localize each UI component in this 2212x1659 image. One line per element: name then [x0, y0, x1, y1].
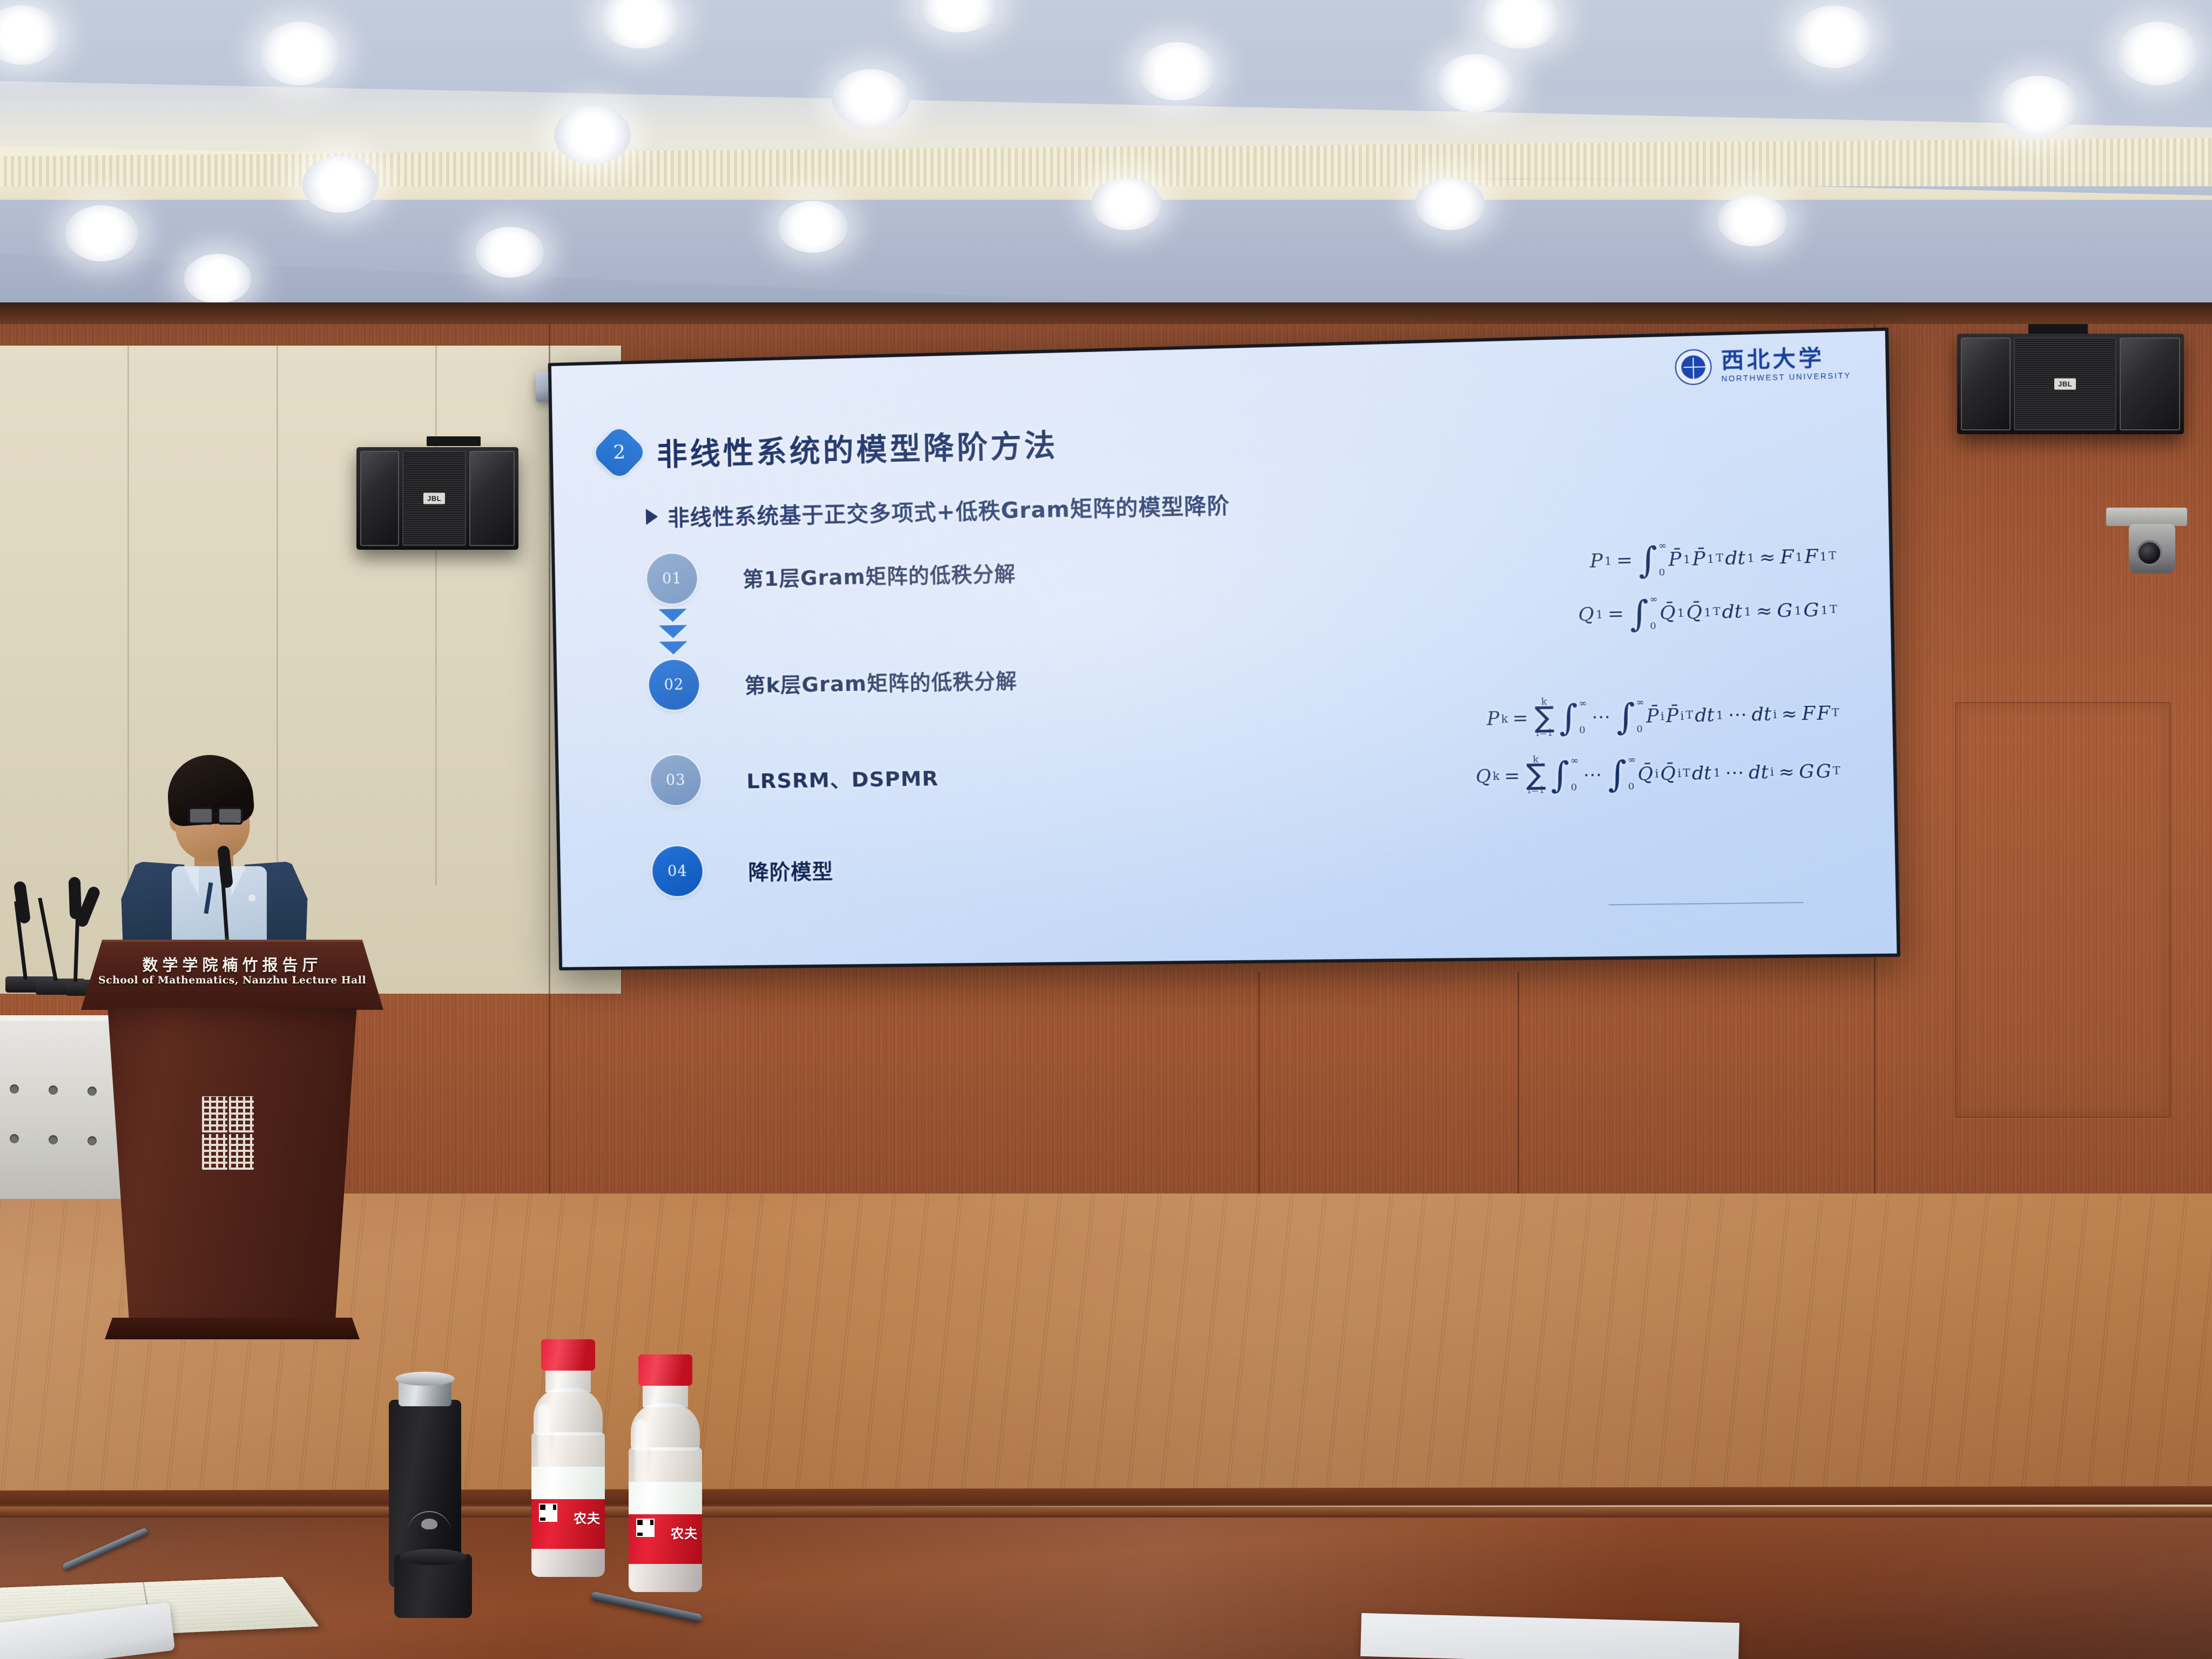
- integrand-2: P̄: [1692, 549, 1705, 569]
- formula-rhs-2-sup: T: [1833, 765, 1840, 776]
- approx-sign: ≈: [1756, 548, 1779, 567]
- approx-sign: ≈: [1778, 705, 1800, 724]
- camera-mount-arm: [2106, 508, 2187, 526]
- formula-Qk: Qk = k ∑ i=1 ∫ ∞ 0: [1299, 750, 1841, 799]
- formula-rhs-2: G: [1816, 761, 1831, 780]
- wall-top-dark-strip: [0, 302, 2212, 324]
- collar-left: [184, 866, 199, 896]
- integral-upper: ∞: [1649, 595, 1657, 605]
- triangle-bullet-icon: [646, 509, 658, 525]
- cabinet-vent-hole: [10, 1084, 19, 1094]
- integral-limits: ∞ 0: [1570, 757, 1579, 793]
- slide-subtitle: 非线性系统基于正交多项式+低秩Gram矩阵的模型降阶: [667, 488, 1230, 532]
- measure-2-sub: i: [1770, 766, 1774, 778]
- step-number-circle: 03: [650, 755, 701, 806]
- integral-limits: ∞ 0: [1579, 699, 1587, 736]
- formula-rhs: G: [1799, 762, 1815, 781]
- slide-subtitle-row: 非线性系统基于正交多项式+低秩Gram矩阵的模型降阶: [646, 488, 1230, 532]
- ceiling-downlight: [554, 106, 631, 164]
- measure-sub: 1: [1716, 710, 1724, 721]
- thermos-logo-icon: [407, 1511, 451, 1535]
- formula-rhs-2: F: [1804, 547, 1818, 567]
- ellipsis: ⋯: [1722, 763, 1747, 782]
- step-label: 第k层Gram矩阵的低秩分解: [744, 664, 1017, 698]
- measure-sub: 1: [1713, 767, 1721, 778]
- ellipsis: ⋯: [1589, 708, 1614, 727]
- integrand: Q̄: [1637, 765, 1653, 783]
- eyeglasses-left-lens: [188, 807, 214, 825]
- chevron-down-icon: [659, 625, 687, 638]
- venue-name-english: School of Mathematics, Nanzhu Lecture Ha…: [81, 974, 383, 986]
- integral-icon: ∫: [1628, 603, 1650, 626]
- ceiling-downlight: [1137, 42, 1216, 100]
- integrand-2-sup: T: [1716, 553, 1723, 564]
- wall-speaker-left: JBL: [356, 447, 518, 550]
- integral-lower: 0: [1636, 725, 1644, 735]
- cabinet-vent-hole: [49, 1135, 58, 1144]
- ceiling-downlight: [1717, 194, 1788, 246]
- integral-upper: ∞: [1636, 698, 1644, 709]
- speaker-grille: JBL: [402, 451, 466, 546]
- step-label: 降阶模型: [748, 854, 834, 885]
- jbl-logo: JBL: [423, 493, 445, 504]
- speaker-horn: [2120, 338, 2180, 430]
- approx-sign: ≈: [1776, 762, 1798, 781]
- integrand-2-sub: i: [1677, 767, 1681, 779]
- wall-speaker-right: JBL: [1957, 334, 2184, 434]
- screen-frame: 西北大学 NORTHWEST UNIVERSITY 2 非线性系统的模型降阶方法…: [548, 327, 1900, 970]
- foreground-table: [0, 1507, 2212, 1659]
- eyeglasses-bridge: [214, 813, 218, 815]
- integrand-2-sup: T: [1685, 710, 1693, 721]
- step-item-02: 02 第k层Gram矩阵的低秩分解: [649, 652, 1088, 710]
- formula-rhs-2-sup: T: [1832, 708, 1839, 719]
- university-logo: 西北大学 NORTHWEST UNIVERSITY: [1675, 345, 1851, 385]
- step-item-03: 03 LRSRM、DSPMR: [650, 748, 1090, 805]
- formula-lhs: Q: [1475, 767, 1491, 785]
- formula-lhs: P: [1589, 551, 1603, 570]
- ptz-camera: [2106, 508, 2187, 578]
- integrand-2: P̄: [1665, 707, 1678, 725]
- eyeglasses-right-lens: [217, 807, 243, 825]
- measure-2: dt: [1751, 705, 1771, 724]
- thermos-rim: [395, 1372, 455, 1386]
- integral-lower: 0: [1571, 783, 1579, 793]
- step-list: 01 第1层Gram矩阵的低秩分解 02 第k层Gram矩阵的低秩分解 03: [646, 545, 1091, 896]
- cabinet-vent-hole: [49, 1085, 58, 1095]
- summation: k ∑ i=1: [1524, 755, 1548, 796]
- ceiling-downlight: [1793, 5, 1874, 68]
- university-name-chinese: 西北大学: [1721, 346, 1851, 372]
- measure: dt: [1695, 706, 1715, 725]
- formula-lhs: P: [1487, 710, 1500, 728]
- thermos-cap[interactable]: [394, 1554, 472, 1618]
- wall-seam: [435, 346, 437, 886]
- section-number-text: 2: [599, 432, 640, 473]
- water-bottle: 农夫: [525, 1339, 611, 1577]
- speaker-horn: [360, 451, 399, 546]
- integral-icon: ∫: [1607, 764, 1628, 786]
- bottle-cap[interactable]: [541, 1339, 595, 1371]
- integrand-2-sub: i: [1680, 710, 1684, 721]
- sigma-icon: ∑: [1524, 765, 1548, 786]
- formula-rhs-2-sub: 1: [1819, 551, 1827, 562]
- integral-limits: ∞ 0: [1628, 756, 1636, 792]
- jbl-logo: JBL: [2054, 379, 2076, 390]
- step-item-01: 01 第1层Gram矩阵的低秩分解: [646, 545, 1086, 604]
- integrand-2: Q̄: [1660, 764, 1676, 783]
- integral-limits: ∞ 0: [1658, 541, 1667, 578]
- measure: dt: [1725, 549, 1745, 568]
- formula-Q1: Q1 = ∫ ∞ 0 Q̄1 Q̄1T dt1 ≈ G1: [1296, 591, 1837, 638]
- formula-lhs-sub: 1: [1604, 555, 1612, 567]
- formula-lhs: Q: [1578, 605, 1594, 624]
- venue-name-chinese: 数学学院楠竹报告厅: [81, 953, 383, 975]
- lapel-pin: [248, 894, 255, 901]
- speaker-horn: [469, 451, 515, 546]
- integral-limits: ∞ 0: [1649, 595, 1658, 631]
- step-number-circle: 02: [649, 659, 699, 710]
- integrand-sub: 1: [1683, 554, 1691, 565]
- ceiling-downlight: [475, 227, 544, 278]
- integrand: P̄: [1668, 550, 1682, 569]
- speaker-mount-bracket: [2028, 324, 2088, 335]
- bottle-label-white: [531, 1467, 605, 1500]
- integral-icon: ∫: [1557, 707, 1579, 730]
- emblem-glyph: [202, 1134, 227, 1170]
- slide-underline-decoration: [1609, 902, 1804, 905]
- integral-lower: 0: [1658, 568, 1667, 578]
- ceiling-downlight: [1437, 54, 1514, 112]
- integral-lower: 0: [1628, 782, 1636, 792]
- bottle-label-red: 农夫: [629, 1514, 702, 1564]
- summation: k ∑ i=1: [1532, 698, 1556, 739]
- ceiling-downlight: [259, 22, 340, 85]
- ceiling-downlight: [184, 254, 252, 304]
- formula-rhs-2-sup: T: [1829, 551, 1836, 562]
- measure-2: dt: [1749, 763, 1769, 781]
- ellipsis: ⋯: [1580, 765, 1605, 784]
- measure-sub: 1: [1744, 606, 1751, 617]
- lectern: 数学学院楠竹报告厅 School of Mathematics, Nanzhu …: [81, 940, 383, 1339]
- chevron-down-icon: [658, 609, 687, 622]
- wall-recessed-panel: [1955, 702, 2171, 1118]
- emblem-glyph: [229, 1134, 254, 1170]
- ceiling-downlight: [1091, 178, 1162, 230]
- table-gloss: [0, 1507, 2212, 1659]
- cabinet-vent-hole: [10, 1134, 19, 1143]
- speaker-mount-bracket: [427, 436, 481, 446]
- formula-group-layer1: P1 = ∫ ∞ 0 P̄1 P̄1T dt1 ≈ F1: [1295, 538, 1837, 638]
- step-label: 第1层Gram矩阵的低秩分解: [743, 556, 1016, 592]
- bottle-label-white: [629, 1482, 702, 1515]
- emblem-glyph: [229, 1096, 254, 1132]
- qr-code-icon: [636, 1519, 655, 1537]
- section-number-badge: 2: [591, 424, 648, 481]
- formula-rhs-2-sub: 1: [1820, 604, 1828, 616]
- presentation-slide: 西北大学 NORTHWEST UNIVERSITY 2 非线性系统的模型降阶方法…: [551, 331, 1897, 967]
- ceiling-downlight: [2117, 22, 2198, 85]
- bottle-neck: [643, 1384, 688, 1407]
- approx-sign: ≈: [1753, 601, 1776, 621]
- step-item-04: 04 降阶模型: [652, 841, 1091, 896]
- integral-lower: 0: [1579, 726, 1587, 736]
- integral-upper: ∞: [1579, 699, 1587, 710]
- emblem-glyph: [202, 1096, 227, 1132]
- lectern-base: [105, 1318, 360, 1339]
- table-edge-lip: [0, 1507, 2212, 1518]
- step-label: LRSRM、DSPMR: [746, 761, 939, 794]
- integrand-sub: i: [1655, 768, 1658, 779]
- ellipsis: ⋯: [1725, 705, 1750, 724]
- ceiling-downlight: [832, 69, 909, 127]
- sigma-icon: ∑: [1533, 707, 1556, 729]
- integrand-sub: i: [1661, 711, 1664, 722]
- seal-script-emblem-icon: [202, 1096, 254, 1170]
- formula-rhs: F: [1780, 548, 1794, 567]
- formula-rhs-2: G: [1803, 601, 1819, 620]
- integrand-2-sup: T: [1713, 606, 1721, 617]
- integrand-2: Q̄: [1686, 603, 1702, 622]
- collar-right: [231, 866, 246, 896]
- bottle-brand-text: 农夫: [671, 1523, 698, 1542]
- integral-icon: ∫: [1549, 765, 1571, 787]
- measure: dt: [1722, 602, 1742, 622]
- formula-rhs: F: [1802, 704, 1815, 723]
- integral-icon: ∫: [1615, 706, 1636, 729]
- ceiling-downlight: [302, 156, 378, 213]
- integrand-2-sup: T: [1683, 768, 1690, 779]
- measure-sub: 1: [1747, 552, 1755, 564]
- chevron-connector: [648, 609, 698, 655]
- projection-screen: 西北大学 NORTHWEST UNIVERSITY 2 非线性系统的模型降阶方法…: [548, 327, 1900, 970]
- integrand: P̄: [1646, 707, 1659, 725]
- integrand-2-sub: 1: [1707, 553, 1715, 564]
- integrand-2-sub: 1: [1704, 606, 1711, 618]
- ceiling-downlight: [1998, 76, 2078, 136]
- camera-body: [2129, 524, 2175, 574]
- formula-block: P1 = ∫ ∞ 0 P̄1 P̄1T dt1 ≈ F1: [1295, 538, 1842, 863]
- ceiling-downlight: [65, 205, 138, 261]
- qr-code-icon: [539, 1503, 557, 1522]
- university-seal-icon: [1675, 349, 1712, 386]
- bottle-brand-text: 农夫: [574, 1508, 601, 1527]
- formula-rhs-2-sup: T: [1830, 604, 1837, 615]
- integrand-sub: 1: [1677, 607, 1685, 618]
- formula-lhs-sub: k: [1493, 771, 1500, 782]
- measure-2-sub: i: [1773, 709, 1777, 720]
- camera-lens-icon: [2136, 540, 2162, 566]
- integrand: Q̄: [1660, 603, 1676, 623]
- integral-upper: ∞: [1628, 756, 1636, 766]
- formula-Pk: Pk = k ∑ i=1 ∫ ∞ 0: [1298, 693, 1840, 743]
- chevron-down-icon: [659, 641, 687, 655]
- formula-rhs-sub: 1: [1794, 605, 1802, 616]
- ceiling-downlight: [778, 201, 848, 253]
- slide-title: 非线性系统的模型降阶方法: [656, 421, 1058, 475]
- water-bottle: 农夫: [622, 1354, 709, 1592]
- speaker-grille: JBL: [2014, 338, 2116, 430]
- ceiling-downlight: [1415, 178, 1485, 230]
- integral-lower: 0: [1650, 622, 1658, 632]
- bottle-label-red: 农夫: [531, 1499, 605, 1549]
- bottle-cap[interactable]: [638, 1354, 692, 1386]
- integral-upper: ∞: [1658, 541, 1667, 551]
- integral-upper: ∞: [1570, 757, 1579, 767]
- integral-limits: ∞ 0: [1636, 698, 1644, 735]
- speaker-horn: [1961, 338, 2011, 430]
- step-number-circle: 04: [652, 846, 703, 896]
- formula-rhs-sub: 1: [1795, 551, 1803, 563]
- formula-P1: P1 = ∫ ∞ 0 P̄1 P̄1T dt1 ≈ F1: [1295, 538, 1836, 585]
- formula-rhs: G: [1777, 601, 1793, 621]
- lecture-hall-photo: JBL JBL 西北大学: [0, 0, 2212, 1659]
- formula-lhs-sub: 1: [1596, 609, 1603, 620]
- step-number-circle: 01: [646, 553, 697, 604]
- bottle-neck: [545, 1368, 591, 1392]
- lectern-body: [91, 1008, 374, 1339]
- formula-lhs-sub: k: [1501, 713, 1508, 724]
- integral-icon: ∫: [1637, 550, 1658, 572]
- formula-rhs-2: F: [1817, 704, 1830, 723]
- formula-group-layerk: Pk = k ∑ i=1 ∫ ∞ 0: [1298, 693, 1841, 799]
- measure: dt: [1691, 764, 1711, 783]
